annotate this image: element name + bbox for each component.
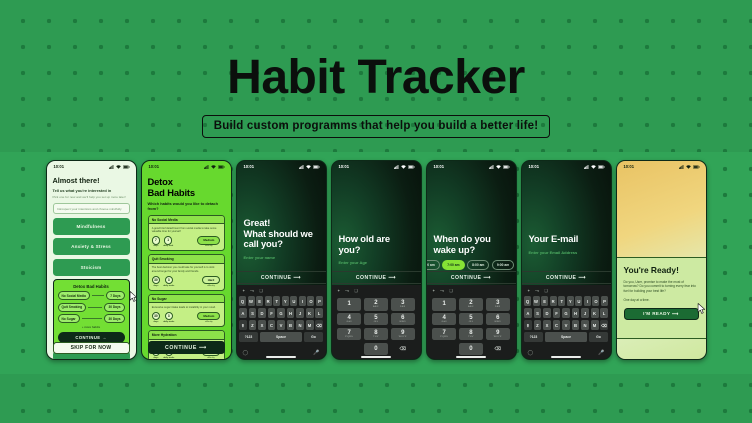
key-e[interactable]: E bbox=[256, 296, 263, 306]
habit-card-title: No Sugar bbox=[149, 295, 224, 304]
key-f[interactable]: F bbox=[553, 308, 561, 318]
go-key[interactable]: Go bbox=[304, 332, 323, 342]
numpad-key-5[interactable]: 5JKL bbox=[459, 313, 483, 326]
key-o[interactable]: O bbox=[307, 296, 314, 306]
keyboard-row-4: ?123SpaceGo bbox=[524, 332, 608, 342]
key-w[interactable]: W bbox=[533, 296, 540, 306]
name-continue-button[interactable]: CONTINUE ⟶ bbox=[237, 271, 326, 284]
email-continue-button[interactable]: CONTINUE ⟶ bbox=[522, 271, 611, 284]
settings-icon[interactable]: ◯ bbox=[243, 350, 249, 356]
habit-tasks-caption: daily tasks bbox=[163, 321, 174, 323]
numpad-key-8[interactable]: 8TUV bbox=[459, 328, 483, 341]
wakeup-screen: When do youwake up?6:00 am7:00 am8:00 am… bbox=[427, 234, 516, 270]
mouse-cursor-icon bbox=[129, 291, 137, 302]
detox-habit-name: Quit Smoking bbox=[58, 303, 87, 312]
wakeup-time-chips: 6:00 am7:00 am8:00 am9:00 am10:00 am bbox=[426, 260, 509, 270]
habit-card[interactable]: No SugarExcessive sugar intake leads to … bbox=[148, 294, 225, 327]
habit-difficulty-caption: difficulty bbox=[205, 321, 212, 323]
key-v[interactable]: V bbox=[277, 320, 285, 330]
qwerty-keyboard[interactable]: ✦ಌ❏QWERTYUIOPASDFGHJKL⬆ZXCVBNM⌫?123Space… bbox=[237, 285, 326, 359]
key-f[interactable]: F bbox=[268, 308, 276, 318]
key-b[interactable]: B bbox=[287, 320, 295, 330]
phone-mockup-ready: 10:01You're Ready!Do you, User, promise … bbox=[616, 160, 707, 360]
status-bar-time: 10:01 bbox=[624, 164, 634, 169]
email-heading: Your E-mail bbox=[529, 234, 604, 245]
habit-card-title: Quit Smoking bbox=[149, 255, 224, 264]
detox-card-title: Detox Bad Habits bbox=[58, 284, 125, 289]
phone-mockup-detox: 10:01DetoxBad HabitsWhich habits would y… bbox=[141, 160, 232, 360]
numpad-key-3[interactable]: 3DEF bbox=[486, 298, 510, 311]
phone-mockup-name: 10:01Great!What should wecall you?Enter … bbox=[236, 160, 327, 360]
poster-header: Habit Tracker Build custom programms tha… bbox=[0, 52, 752, 138]
detox-continue-button[interactable]: CONTINUE ⟶ bbox=[148, 341, 225, 354]
numpad-key-6[interactable]: 6MNO bbox=[391, 313, 415, 326]
habit-tasks-stat: 3daily tasks bbox=[163, 276, 174, 287]
status-bar: 10:01 bbox=[332, 161, 421, 172]
habit-connector-line bbox=[92, 295, 104, 296]
key-s[interactable]: S bbox=[249, 308, 257, 318]
status-bar-icons bbox=[299, 165, 319, 169]
detox-habit-row[interactable]: Quit Smoking30 Days bbox=[58, 303, 125, 312]
emoji-icon[interactable]: ✦ bbox=[242, 288, 245, 293]
numpad-key-7[interactable]: 7PQRS bbox=[432, 328, 456, 341]
key-u[interactable]: U bbox=[575, 296, 582, 306]
wakeup-continue-button[interactable]: CONTINUE ⟶ bbox=[427, 271, 516, 284]
poster-canvas: Habit Tracker Build custom programms tha… bbox=[0, 0, 752, 423]
backspace-key[interactable]: ⌫ bbox=[600, 320, 608, 330]
key-t[interactable]: T bbox=[273, 296, 280, 306]
emoji-icon[interactable]: ✦ bbox=[527, 288, 530, 293]
status-bar: 10:01 bbox=[47, 161, 136, 172]
key-n[interactable]: N bbox=[296, 320, 304, 330]
ready-body-text: Do you, User, promise to make the most o… bbox=[624, 280, 699, 294]
key-d[interactable]: D bbox=[258, 308, 266, 318]
habit-tasks-caption: daily task bbox=[163, 245, 173, 247]
numpad-backspace-key[interactable]: ⌫ bbox=[391, 343, 415, 356]
habit-card-stats: 30days3daily tasksMediumdifficulty bbox=[149, 309, 224, 322]
habit-tasks-stat: 3daily tasks bbox=[163, 312, 174, 323]
numpad-key-2[interactable]: 2ABC bbox=[364, 298, 388, 311]
age-continue-button[interactable]: CONTINUE ⟶ bbox=[332, 271, 421, 284]
status-bar-time: 10:01 bbox=[149, 164, 159, 169]
space-key[interactable]: Space bbox=[545, 332, 588, 342]
keyboard-toolbar: ✦ಌ❏ bbox=[429, 288, 513, 296]
key-p[interactable]: P bbox=[316, 296, 323, 306]
home-indicator bbox=[551, 356, 581, 358]
keyboard-row-4: ?123SpaceGo bbox=[239, 332, 323, 342]
detox-habit-row[interactable]: No Sugar30 Days bbox=[58, 314, 125, 323]
space-key[interactable]: Space bbox=[260, 332, 303, 342]
key-i[interactable]: I bbox=[584, 296, 591, 306]
numpad-key-3[interactable]: 3DEF bbox=[391, 298, 415, 311]
habit-tasks-stat: 1daily task bbox=[163, 236, 173, 247]
key-g[interactable]: G bbox=[277, 308, 285, 318]
detox-subheading: Which habits would you like to detach fr… bbox=[148, 201, 225, 212]
status-bar-time: 10:01 bbox=[54, 164, 64, 169]
habit-days-stat: 7days bbox=[152, 236, 161, 247]
mouse-cursor-icon bbox=[697, 303, 706, 314]
ready-hero-gradient bbox=[617, 172, 706, 268]
qwerty-keyboard[interactable]: ✦ಌ❏QWERTYUIOPASDFGHJKL⬆ZXCVBNM⌫?123Space… bbox=[522, 285, 611, 359]
habit-tasks-value: 3 bbox=[165, 276, 174, 285]
key-y[interactable]: Y bbox=[567, 296, 574, 306]
key-l[interactable]: L bbox=[315, 308, 323, 318]
keyboard-row-1: QWERTYUIOP bbox=[524, 296, 608, 306]
habit-difficulty: Mediumdifficulty bbox=[197, 312, 220, 323]
key-s[interactable]: S bbox=[534, 308, 542, 318]
clipboard-icon[interactable]: ❏ bbox=[354, 288, 358, 293]
key-w[interactable]: W bbox=[248, 296, 255, 306]
habit-card-title: More Hydration bbox=[149, 331, 224, 340]
key-c[interactable]: C bbox=[268, 320, 276, 330]
ready-card: You're Ready!Do you, User, promise to ma… bbox=[617, 257, 706, 339]
key-a[interactable]: A bbox=[524, 308, 532, 318]
interest-option-3[interactable]: Stoicism bbox=[53, 259, 130, 276]
detox-habit-row[interactable]: No Social Media7 Days bbox=[58, 291, 125, 300]
name-heading: Great!What should wecall you? bbox=[244, 218, 319, 250]
key-c[interactable]: C bbox=[553, 320, 561, 330]
wakeup-heading: When do youwake up? bbox=[434, 234, 509, 255]
key-m[interactable]: M bbox=[591, 320, 599, 330]
keyboard-row-2: ASDFGHJKL bbox=[239, 308, 323, 318]
key-j[interactable]: J bbox=[581, 308, 589, 318]
key-z[interactable]: Z bbox=[249, 320, 257, 330]
status-bar-time: 10:01 bbox=[434, 164, 444, 169]
status-bar-time: 10:01 bbox=[529, 164, 539, 169]
gif-icon[interactable]: ಌ bbox=[345, 288, 349, 293]
habit-card-description: A good brief detachment from social medi… bbox=[149, 224, 224, 233]
habit-days-caption: days bbox=[153, 285, 158, 287]
detox-screen: DetoxBad HabitsWhich habits would you li… bbox=[142, 172, 231, 360]
numpad-key-4[interactable]: 4GHI bbox=[337, 313, 361, 326]
age-screen: How old are you?Enter your Age bbox=[332, 234, 421, 265]
status-bar-icons bbox=[109, 165, 129, 169]
numpad-blank bbox=[432, 343, 456, 356]
interests-hint: Pick one for now and we'll help you set … bbox=[53, 195, 130, 199]
habit-tasks-caption: daily tasks bbox=[163, 285, 174, 287]
numpad-key-7[interactable]: 7PQRS bbox=[337, 328, 361, 341]
numpad-grid: 12ABC3DEF4GHI5JKL6MNO7PQRS8TUV9WXYZ0⌫ bbox=[429, 296, 513, 355]
status-bar-time: 10:01 bbox=[244, 164, 254, 169]
key-j[interactable]: J bbox=[296, 308, 304, 318]
habit-card-description: Excessive sugar intake leads to instabil… bbox=[149, 303, 224, 309]
habit-difficulty-caption: difficulty bbox=[205, 245, 212, 247]
interests-screen: Almost there!Tell us what you're interes… bbox=[47, 172, 136, 360]
key-u[interactable]: U bbox=[290, 296, 297, 306]
key-n[interactable]: N bbox=[581, 320, 589, 330]
habit-difficulty: Harddifficulty bbox=[202, 276, 221, 287]
detox-habit-name: No Sugar bbox=[58, 314, 80, 323]
numpad-key-9[interactable]: 9WXYZ bbox=[486, 328, 510, 341]
key-r[interactable]: R bbox=[550, 296, 557, 306]
page-title: Habit Tracker bbox=[227, 52, 525, 104]
habit-days-stat: 30days bbox=[152, 276, 161, 287]
numpad-key-1[interactable]: 1 bbox=[432, 298, 456, 311]
more-habits-label[interactable]: + more habits bbox=[58, 325, 125, 329]
key-d[interactable]: D bbox=[543, 308, 551, 318]
detox-habit-duration: 30 Days bbox=[104, 314, 124, 323]
key-x[interactable]: X bbox=[258, 320, 266, 330]
habit-days-caption: days bbox=[153, 245, 158, 247]
habit-tasks-caption: daily tasks bbox=[163, 357, 174, 359]
key-a[interactable]: A bbox=[239, 308, 247, 318]
wakeup-time-chip[interactable]: 6:00 am bbox=[426, 260, 440, 270]
habit-difficulty: Mediumdifficulty bbox=[197, 236, 220, 247]
age-heading: How old are you? bbox=[339, 234, 414, 255]
habit-difficulty-badge: Medium bbox=[197, 236, 220, 245]
emoji-icon[interactable]: ✦ bbox=[432, 288, 435, 293]
shift-key[interactable]: ⬆ bbox=[239, 320, 247, 330]
age-input-placeholder[interactable]: Enter your Age bbox=[339, 260, 414, 265]
key-t[interactable]: T bbox=[558, 296, 565, 306]
phone-mockup-wakeup: 10:01When do youwake up?6:00 am7:00 am8:… bbox=[426, 160, 517, 360]
key-e[interactable]: E bbox=[541, 296, 548, 306]
settings-icon[interactable]: ◯ bbox=[528, 350, 534, 356]
keyboard-row-3: ⬆ZXCVBNM⌫ bbox=[239, 320, 323, 330]
status-bar-icons bbox=[679, 165, 699, 169]
numpad-key-0[interactable]: 0 bbox=[364, 343, 388, 356]
key-r[interactable]: R bbox=[265, 296, 272, 306]
key-q[interactable]: Q bbox=[239, 296, 246, 306]
numpad-key-0[interactable]: 0 bbox=[459, 343, 483, 356]
key-y[interactable]: Y bbox=[282, 296, 289, 306]
ready-heading: You're Ready! bbox=[624, 266, 699, 276]
key-b[interactable]: B bbox=[572, 320, 580, 330]
numpad-key-1[interactable]: 1 bbox=[337, 298, 361, 311]
go-key[interactable]: Go bbox=[589, 332, 608, 342]
numpad-grid: 12ABC3DEF4GHI5JKL6MNO7PQRS8TUV9WXYZ0⌫ bbox=[334, 296, 418, 355]
status-bar: 10:01 bbox=[142, 161, 231, 172]
numpad-blank bbox=[337, 343, 361, 356]
status-bar: 10:01 bbox=[237, 161, 326, 172]
interests-heading: Almost there! bbox=[53, 177, 130, 185]
habit-connector-line bbox=[88, 307, 102, 308]
numbers-key[interactable]: ?123 bbox=[524, 332, 543, 342]
clipboard-icon[interactable]: ❏ bbox=[259, 288, 263, 293]
key-z[interactable]: Z bbox=[534, 320, 542, 330]
habit-days-value: 30 bbox=[152, 312, 161, 321]
habit-card-stats: 30days3daily tasksHarddifficulty bbox=[149, 273, 224, 286]
numeric-keypad[interactable]: ✦ಌ❏12ABC3DEF4GHI5JKL6MNO7PQRS8TUV9WXYZ0⌫ bbox=[427, 285, 516, 359]
shift-key[interactable]: ⬆ bbox=[524, 320, 532, 330]
key-p[interactable]: P bbox=[601, 296, 608, 306]
keyboard-row-3: ⬆ZXCVBNM⌫ bbox=[524, 320, 608, 330]
wakeup-time-chip[interactable]: 8:00 am bbox=[467, 260, 489, 270]
habit-days-caption: days bbox=[153, 357, 158, 359]
numpad-key-9[interactable]: 9WXYZ bbox=[391, 328, 415, 341]
email-input-placeholder[interactable]: Enter your Email Address bbox=[529, 250, 604, 255]
backspace-key[interactable]: ⌫ bbox=[315, 320, 323, 330]
detox-habit-duration: 7 Days bbox=[106, 291, 124, 300]
gif-icon[interactable]: ಌ bbox=[440, 288, 444, 293]
name-screen: Great!What should wecall you?Enter your … bbox=[237, 218, 326, 260]
key-h[interactable]: H bbox=[572, 308, 580, 318]
habit-difficulty-badge: Medium bbox=[197, 312, 220, 321]
gif-icon[interactable]: ಌ bbox=[535, 288, 539, 293]
status-bar: 10:01 bbox=[522, 161, 611, 172]
numeric-keypad[interactable]: ✦ಌ❏12ABC3DEF4GHI5JKL6MNO7PQRS8TUV9WXYZ0⌫ bbox=[332, 285, 421, 359]
status-bar-icons bbox=[489, 165, 509, 169]
phone-mockup-age: 10:01How old are you?Enter your AgeCONTI… bbox=[331, 160, 422, 360]
habit-days-value: 30 bbox=[152, 276, 161, 285]
numpad-key-4[interactable]: 4GHI bbox=[432, 313, 456, 326]
name-input-placeholder[interactable]: Enter your name bbox=[244, 255, 319, 260]
status-bar-icons bbox=[584, 165, 604, 169]
habit-tasks-value: 1 bbox=[164, 236, 173, 245]
numbers-key[interactable]: ?123 bbox=[239, 332, 258, 342]
numpad-backspace-key[interactable]: ⌫ bbox=[486, 343, 510, 356]
habit-difficulty-badge: Hard bbox=[202, 276, 221, 285]
home-indicator bbox=[361, 356, 391, 358]
interests-subheading: Tell us what you're interested in bbox=[53, 188, 130, 193]
key-o[interactable]: O bbox=[592, 296, 599, 306]
status-bar-icons bbox=[204, 165, 224, 169]
wakeup-time-chip[interactable]: 9:00 am bbox=[492, 260, 514, 270]
status-bar: 10:01 bbox=[617, 161, 706, 172]
detox-habit-name: No Social Media bbox=[58, 291, 90, 300]
interest-option-2[interactable]: Anxiety & Stress bbox=[53, 238, 130, 255]
numpad-key-6[interactable]: 6MNO bbox=[486, 313, 510, 326]
habit-days-value: 7 bbox=[152, 236, 161, 245]
key-k[interactable]: K bbox=[306, 308, 314, 318]
habit-connector-line bbox=[82, 318, 103, 319]
habit-days-stat: 30days bbox=[152, 312, 161, 323]
wakeup-time-chip[interactable]: 7:00 am bbox=[442, 260, 464, 270]
key-k[interactable]: K bbox=[591, 308, 599, 318]
key-v[interactable]: V bbox=[562, 320, 570, 330]
detox-bad-habits-card[interactable]: Detox Bad HabitsNo Social Media7 DaysQui… bbox=[53, 279, 130, 348]
keyboard-row-1: QWERTYUIOP bbox=[239, 296, 323, 306]
habit-card-title: No Social Media bbox=[149, 216, 224, 225]
key-q[interactable]: Q bbox=[524, 296, 531, 306]
key-l[interactable]: L bbox=[600, 308, 608, 318]
detox-heading: DetoxBad Habits bbox=[148, 177, 225, 198]
interest-option-1[interactable]: Mindfulness bbox=[53, 218, 130, 235]
keyboard-row-2: ASDFGHJKL bbox=[524, 308, 608, 318]
key-x[interactable]: X bbox=[543, 320, 551, 330]
microphone-icon[interactable]: 🎤 bbox=[313, 350, 319, 356]
key-i[interactable]: I bbox=[299, 296, 306, 306]
numpad-key-2[interactable]: 2ABC bbox=[459, 298, 483, 311]
numpad-key-5[interactable]: 5JKL bbox=[364, 313, 388, 326]
skip-for-now-button[interactable]: SKIP FOR NOW bbox=[53, 342, 130, 354]
gif-icon[interactable]: ಌ bbox=[250, 288, 254, 293]
email-screen: Your E-mailEnter your Email Address bbox=[522, 234, 611, 255]
key-h[interactable]: H bbox=[287, 308, 295, 318]
habit-days-caption: days bbox=[153, 321, 158, 323]
keyboard-toolbar: ✦ಌ❏ bbox=[239, 288, 323, 296]
numpad-key-8[interactable]: 8TUV bbox=[364, 328, 388, 341]
habit-card[interactable]: No Social MediaA good brief detachment f… bbox=[148, 215, 225, 251]
home-indicator bbox=[266, 356, 296, 358]
phone-mockup-row: 10:01Almost there!Tell us what you're in… bbox=[0, 160, 752, 360]
keyboard-toolbar: ✦ಌ❏ bbox=[334, 288, 418, 296]
home-indicator bbox=[456, 356, 486, 358]
microphone-icon[interactable]: 🎤 bbox=[598, 350, 604, 356]
subtitle-badge: Build custom programms that help you bui… bbox=[202, 115, 550, 138]
interests-search-input[interactable]: Introspect your intentions and choose mi… bbox=[53, 203, 130, 214]
status-bar: 10:01 bbox=[427, 161, 516, 172]
emoji-icon[interactable]: ✦ bbox=[337, 288, 340, 293]
clipboard-icon[interactable]: ❏ bbox=[449, 288, 453, 293]
status-bar-time: 10:01 bbox=[339, 164, 349, 169]
key-g[interactable]: G bbox=[562, 308, 570, 318]
habit-difficulty-caption: difficulty bbox=[207, 285, 214, 287]
status-bar-icons bbox=[394, 165, 414, 169]
im-ready-button[interactable]: I'M READY ⟶ bbox=[624, 308, 699, 320]
ready-body-text-2: One day at a time. bbox=[624, 298, 699, 303]
habit-card-description: The best decision you could take for you… bbox=[149, 264, 224, 273]
habit-difficulty-caption: difficulty bbox=[207, 357, 214, 359]
key-m[interactable]: M bbox=[306, 320, 314, 330]
detox-habit-duration: 30 Days bbox=[104, 303, 124, 312]
habit-card-stats: 7days1daily taskMediumdifficulty bbox=[149, 234, 224, 247]
clipboard-icon[interactable]: ❏ bbox=[544, 288, 548, 293]
habit-card[interactable]: Quit SmokingThe best decision you could … bbox=[148, 254, 225, 290]
keyboard-toolbar: ✦ಌ❏ bbox=[524, 288, 608, 296]
habit-tasks-value: 3 bbox=[165, 312, 174, 321]
phone-mockup-email: 10:01Your E-mailEnter your Email Address… bbox=[521, 160, 612, 360]
phone-mockup-interests: 10:01Almost there!Tell us what you're in… bbox=[46, 160, 137, 360]
